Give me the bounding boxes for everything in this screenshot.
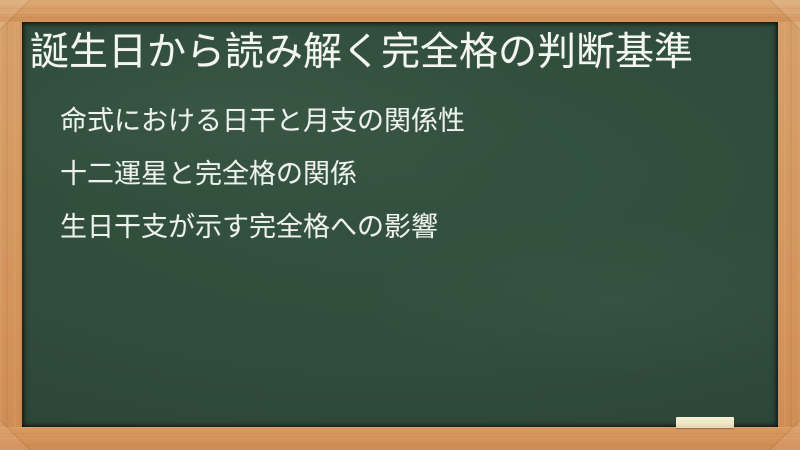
blackboard-slide: 誕生日から読み解く完全格の判断基準 命式における日干と月支の関係性 十二運星と完… [0,0,800,450]
wood-frame-top-rail [0,0,800,22]
wood-frame-bottom-ledge [0,427,800,450]
list-item: 生日干支が示す完全格への影響 [60,212,750,244]
slide-title: 誕生日から読み解く完全格の判断基準 [30,30,770,76]
chalkboard-surface: 誕生日から読み解く完全格の判断基準 命式における日干と月支の関係性 十二運星と完… [22,22,778,427]
list-item: 命式における日干と月支の関係性 [60,106,750,138]
list-item: 十二運星と完全格の関係 [60,159,750,191]
topic-list: 命式における日干と月支の関係性 十二運星と完全格の関係 生日干支が示す完全格への… [60,106,750,244]
chalk-stick [676,417,734,428]
